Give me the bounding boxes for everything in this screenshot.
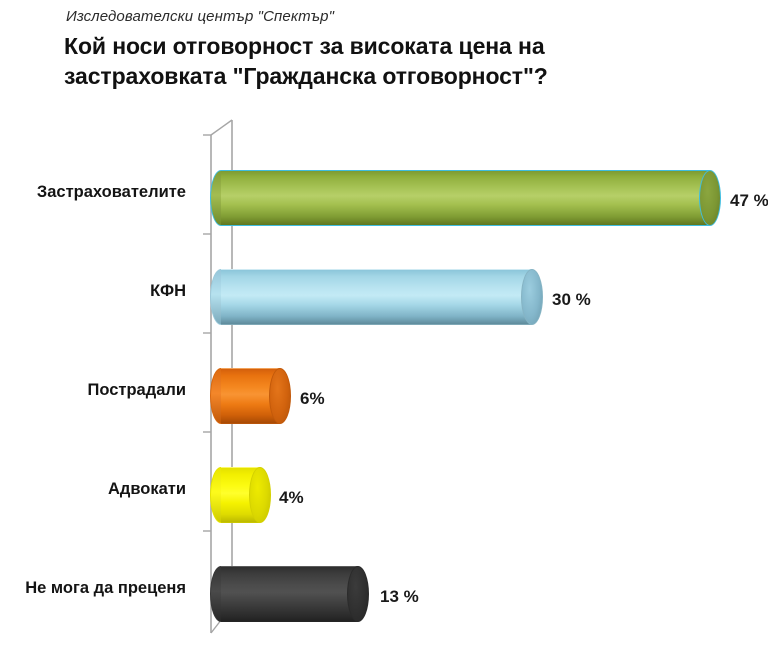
axis-top-diagonal — [211, 120, 232, 135]
bar-4-body — [221, 566, 358, 622]
bar-3[interactable] — [221, 467, 271, 523]
bar-0-body — [221, 170, 710, 226]
bar-3-right-cap — [249, 467, 271, 523]
value-label-4: 13 % — [380, 588, 419, 605]
chart-subtitle: Изследователски център "Спектър" — [66, 8, 334, 25]
chart-row-1: КФН 30 % — [0, 241, 768, 337]
chart-row-0: Застрахователите 47 % — [0, 142, 768, 238]
chart-row-2: Пострадали 6% — [0, 340, 768, 436]
bar-1-right-cap — [521, 269, 543, 325]
chart-title-line-2: застраховката "Гражданска отговорност"? — [64, 61, 704, 91]
category-label-4: Не мога да преценя — [0, 580, 186, 597]
category-label-3: Адвокати — [0, 481, 186, 498]
value-label-3: 4% — [279, 489, 304, 506]
value-label-2: 6% — [300, 390, 325, 407]
chart-container: Изследователски център "Спектър" Кой нос… — [0, 0, 768, 653]
bar-1-body — [221, 269, 532, 325]
plot-area: Застрахователите 47 % КФН 30 % Пострадал… — [0, 110, 768, 653]
category-label-2: Пострадали — [0, 382, 186, 399]
value-label-0: 47 % — [730, 192, 768, 209]
bar-2[interactable] — [221, 368, 291, 424]
value-label-1: 30 % — [552, 291, 591, 308]
chart-row-4: Не мога да преценя 13 % — [0, 538, 768, 634]
bar-0[interactable] — [221, 170, 721, 226]
bar-2-right-cap — [269, 368, 291, 424]
bar-4-right-cap — [347, 566, 369, 622]
chart-title-line-1: Кой носи отговорност за високата цена на — [64, 31, 704, 61]
category-label-0: Застрахователите — [0, 184, 186, 201]
chart-title: Кой носи отговорност за високата цена на… — [64, 31, 704, 91]
bar-4[interactable] — [221, 566, 369, 622]
bar-1[interactable] — [221, 269, 543, 325]
bar-0-right-cap — [699, 170, 721, 226]
chart-row-3: Адвокати 4% — [0, 439, 768, 535]
category-label-1: КФН — [0, 283, 186, 300]
